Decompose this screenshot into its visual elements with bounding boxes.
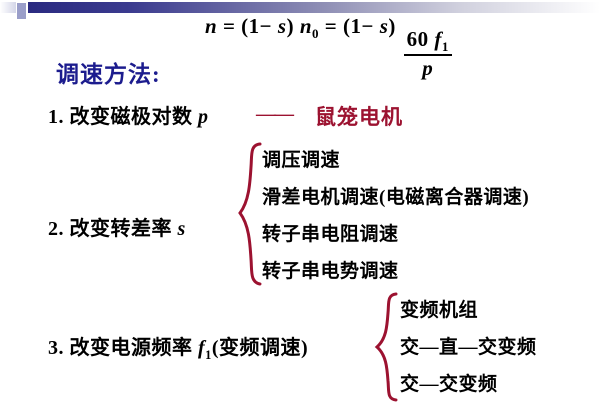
brace-group-2 xyxy=(234,141,264,292)
page-title: 调速方法: xyxy=(56,55,161,89)
formula-close1: ) xyxy=(287,14,295,38)
list-item: 转子串电势调速 xyxy=(262,256,529,293)
speed-formula: n = (1− s) n0 = (1− s) 60 f1 p xyxy=(205,14,454,80)
item-1-highlight: 鼠笼电机 xyxy=(315,101,403,131)
list-item: 交—直—交变频 xyxy=(400,332,537,369)
sublist-group-2: 调压调速 滑差电机调速(电磁离合器调速) 转子串电阻调速 转子串电势调速 xyxy=(262,145,529,293)
formula-eq1: = (1 xyxy=(223,14,260,38)
item-2-number: 2. xyxy=(48,218,64,240)
list-item: 转子串电阻调速 xyxy=(262,219,529,256)
item-3-symbol-sub: 1 xyxy=(205,348,212,362)
formula-eq2: = (1 xyxy=(325,14,362,38)
formula-minus2: − xyxy=(361,14,373,38)
top-band-swatch-left xyxy=(0,2,16,13)
item-3-suffix: (变频调速) xyxy=(212,337,308,359)
formula-s1: s xyxy=(278,14,287,38)
formula-n0: n xyxy=(300,14,312,38)
top-band-swatch-square xyxy=(17,3,26,19)
formula-num-60: 60 xyxy=(407,27,429,51)
formula-fraction: 60 f1 p xyxy=(404,29,452,80)
list-item: 滑差电机调速(电磁离合器调速) xyxy=(262,182,529,219)
formula-num-sub: 1 xyxy=(442,39,449,54)
list-item: 调压调速 xyxy=(262,145,529,182)
item-3-number: 3. xyxy=(48,337,64,359)
formula-denominator: p xyxy=(422,56,433,79)
item-1-symbol: p xyxy=(198,106,209,128)
sublist-group-3: 变频机组 交—直—交变频 交—交变频 xyxy=(400,295,537,406)
formula-n0-sub: 0 xyxy=(312,26,319,41)
list-item-2: 2. 改变转差率 s xyxy=(48,212,186,241)
item-2-label: 改变转差率 xyxy=(70,218,173,240)
slide-canvas: n = (1− s) n0 = (1− s) 60 f1 p 调速方法: 1. … xyxy=(0,0,600,412)
top-gradient-band xyxy=(28,2,600,13)
list-item: 交—交变频 xyxy=(400,369,537,406)
list-item: 变频机组 xyxy=(400,295,537,332)
list-item-3: 3. 改变电源频率 f1(变频调速) xyxy=(48,331,308,363)
item-1-number: 1. xyxy=(48,106,64,128)
item-2-symbol: s xyxy=(178,218,186,240)
item-3-label: 改变电源频率 xyxy=(70,337,193,359)
item-1-dash: —— xyxy=(256,103,292,126)
item-1-label: 改变磁极对数 xyxy=(70,106,193,128)
formula-close2: ) xyxy=(388,14,396,38)
formula-n: n xyxy=(205,14,217,38)
formula-num-f: f xyxy=(434,27,442,51)
brace-group-3 xyxy=(372,291,400,408)
formula-numerator: 60 f1 xyxy=(404,29,452,56)
list-item-1: 1. 改变磁极对数 p xyxy=(48,100,209,129)
formula-minus1: − xyxy=(260,14,272,38)
